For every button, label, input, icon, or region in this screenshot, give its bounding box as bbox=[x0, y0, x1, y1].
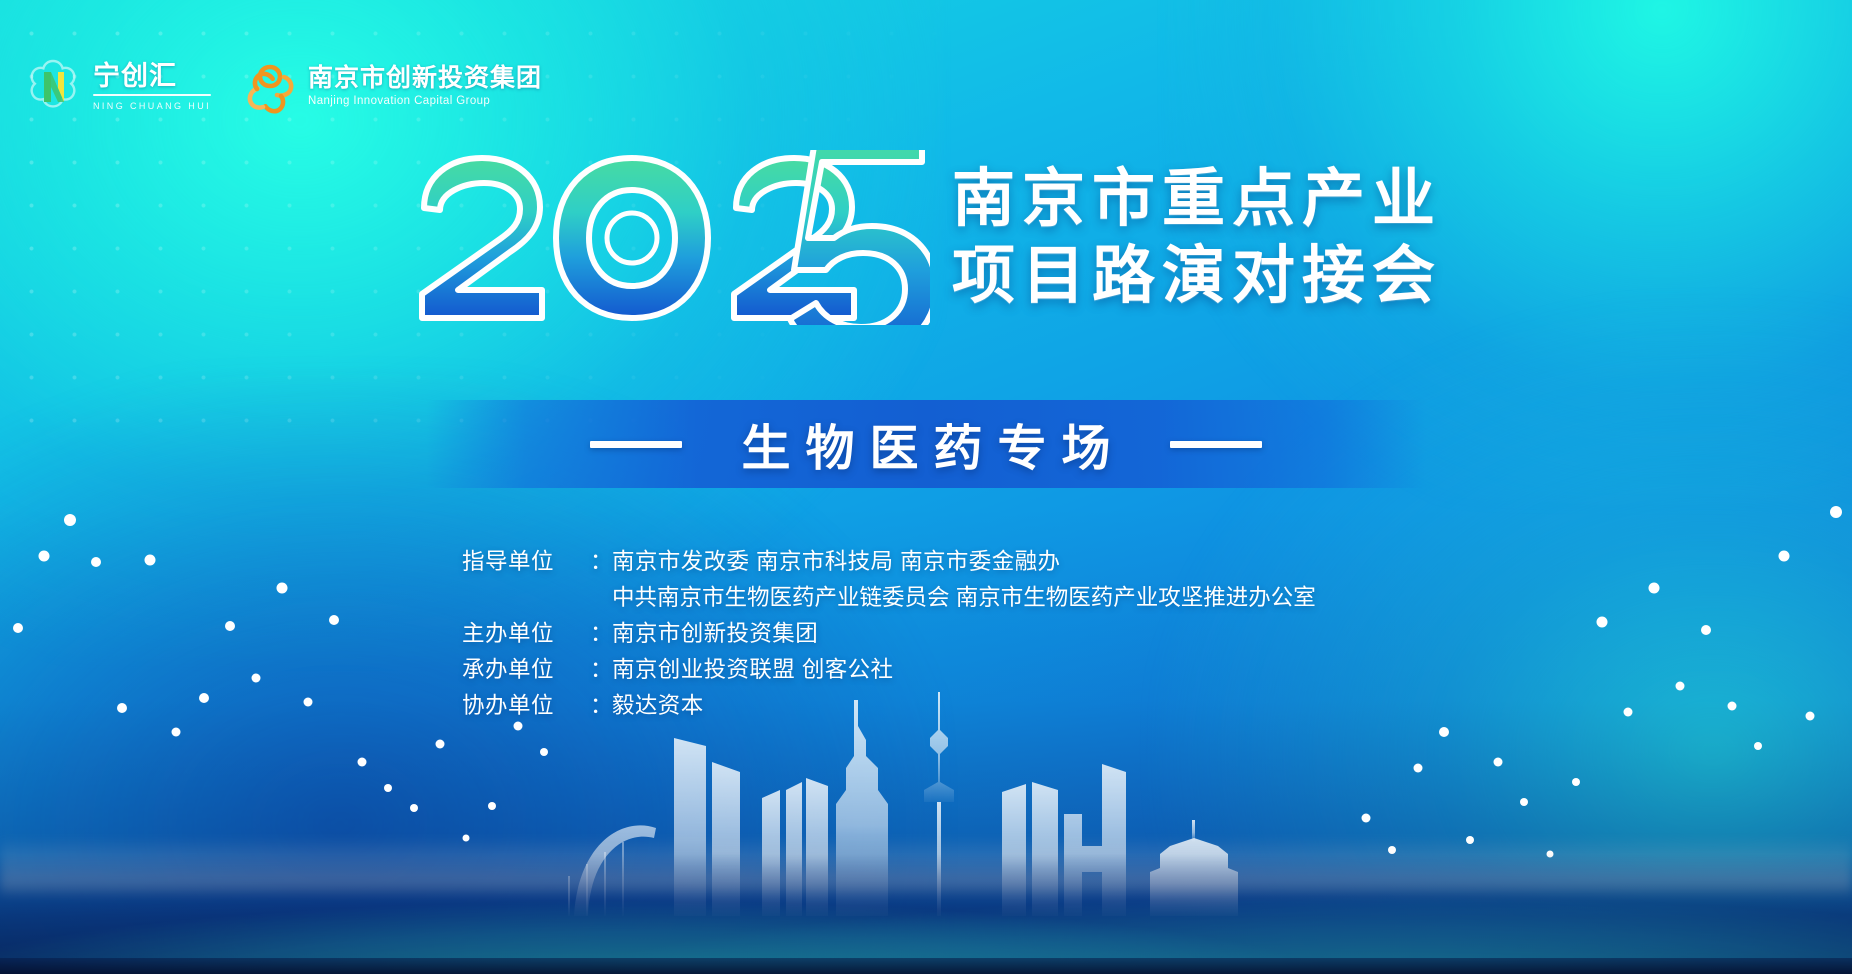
banner-dash-left-icon bbox=[590, 441, 682, 448]
organizer-colon: ： bbox=[590, 616, 612, 652]
organizer-row: 承办单位 ： 南京创业投资联盟 创客公社 bbox=[462, 652, 1316, 688]
organizer-colon: ： bbox=[590, 652, 612, 688]
ning-chuang-hui-logo-icon bbox=[22, 56, 84, 118]
subtitle-text: 生物医药专场 bbox=[726, 409, 1125, 480]
logo-bar: 宁创汇 NING CHUANG HUI 南京市创新投资集团 Nanjing In… bbox=[22, 56, 542, 118]
logo-cn-text: 宁创汇 bbox=[93, 63, 211, 90]
logo-en-text: Nanjing Innovation Capital Group bbox=[308, 96, 542, 108]
organizer-row: 主办单位 ： 南京市创新投资集团 bbox=[462, 616, 1316, 652]
organizer-colon: ： bbox=[590, 544, 612, 580]
organizer-value: 南京创业投资联盟 创客公社 bbox=[612, 652, 893, 688]
logo-ning-chuang-hui[interactable]: 宁创汇 NING CHUANG HUI bbox=[22, 56, 211, 118]
logo-cn-text: 南京市创新投资集团 bbox=[308, 66, 542, 91]
logo-en-text: NING CHUANG HUI bbox=[93, 102, 211, 111]
organizer-label: 承办单位 bbox=[462, 652, 590, 688]
logo-underline bbox=[93, 94, 211, 96]
organizer-value: 南京市创新投资集团 bbox=[612, 616, 818, 652]
organizer-row: 指导单位 ： 南京市发改委 南京市科技局 南京市委金融办 bbox=[462, 544, 1316, 580]
banner-dash-right-icon bbox=[1170, 441, 1262, 448]
organizer-label: 指导单位 bbox=[462, 544, 590, 580]
main-title: 南京市重点产业 项目路演对接会 bbox=[952, 165, 1442, 309]
main-title-line-1: 南京市重点产业 bbox=[952, 165, 1442, 233]
organizer-label: 主办单位 bbox=[462, 616, 590, 652]
organizer-continuation: 中共南京市生物医药产业链委员会 南京市生物医药产业攻坚推进办公室 bbox=[462, 580, 1316, 616]
main-title-line-2: 项目路演对接会 bbox=[952, 242, 1442, 310]
organizer-value: 南京市发改委 南京市科技局 南京市委金融办 bbox=[612, 544, 1060, 580]
nanjing-innovation-capital-group-logo-icon bbox=[241, 58, 299, 116]
title-row: 南京市重点产业 项目路演对接会 bbox=[0, 150, 1852, 325]
ning-chuang-hui-wordmark: 宁创汇 NING CHUANG HUI bbox=[93, 63, 211, 111]
year-2025-graphic bbox=[410, 150, 930, 325]
logo-nanjing-innovation-capital-group[interactable]: 南京市创新投资集团 Nanjing Innovation Capital Gro… bbox=[241, 58, 542, 116]
event-poster: 宁创汇 NING CHUANG HUI 南京市创新投资集团 Nanjing In… bbox=[0, 0, 1852, 974]
subtitle-banner: 生物医药专场 bbox=[426, 400, 1426, 488]
bottom-edge-bar bbox=[0, 958, 1852, 974]
nicg-wordmark: 南京市创新投资集团 Nanjing Innovation Capital Gro… bbox=[308, 66, 542, 108]
